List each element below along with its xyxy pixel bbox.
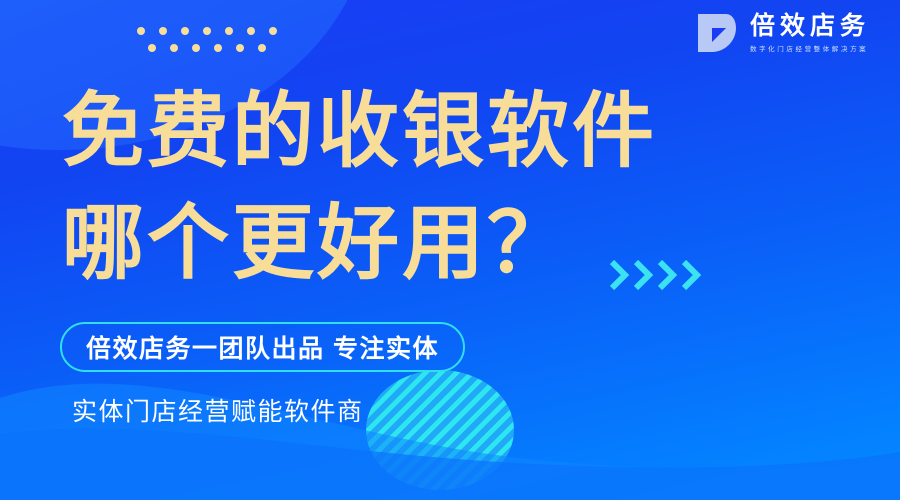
dot	[236, 44, 244, 52]
dot	[192, 44, 200, 52]
chevron-right-icon	[632, 258, 654, 292]
decorative-chevron-group	[608, 258, 702, 292]
brand-logo[interactable]: 倍效店务 数字化门店经营整体解决方案	[696, 12, 870, 54]
logo-name: 倍效店务	[750, 13, 870, 39]
dot	[214, 44, 222, 52]
promo-banner: 倍效店务 数字化门店经营整体解决方案 免费的收银软件 哪个更好用？ 倍效店务一团…	[0, 0, 900, 500]
logo-subtitle: 数字化门店经营整体解决方案	[750, 43, 868, 53]
dot	[137, 27, 145, 35]
tagline: 实体门店经营赋能软件商	[72, 392, 364, 428]
dot	[225, 27, 233, 35]
dot	[269, 27, 277, 35]
dot	[148, 44, 156, 52]
dot	[159, 27, 167, 35]
credibility-pill: 倍效店务一团队出品 专注实体	[60, 322, 465, 372]
headline-line-1: 免费的收银软件	[62, 76, 782, 188]
decorative-dot-grid	[137, 27, 297, 59]
dot	[258, 44, 266, 52]
chevron-right-icon	[608, 258, 630, 292]
logo-text-block: 倍效店务 数字化门店经营整体解决方案	[750, 13, 870, 53]
dot	[203, 27, 211, 35]
dot	[247, 27, 255, 35]
credibility-pill-label: 倍效店务一团队出品 专注实体	[86, 329, 439, 365]
dot	[170, 44, 178, 52]
dot	[181, 27, 189, 35]
chevron-right-icon	[680, 258, 702, 292]
chevron-right-icon	[656, 258, 678, 292]
beixiao-dianwu-logo-mark-icon	[696, 12, 738, 54]
